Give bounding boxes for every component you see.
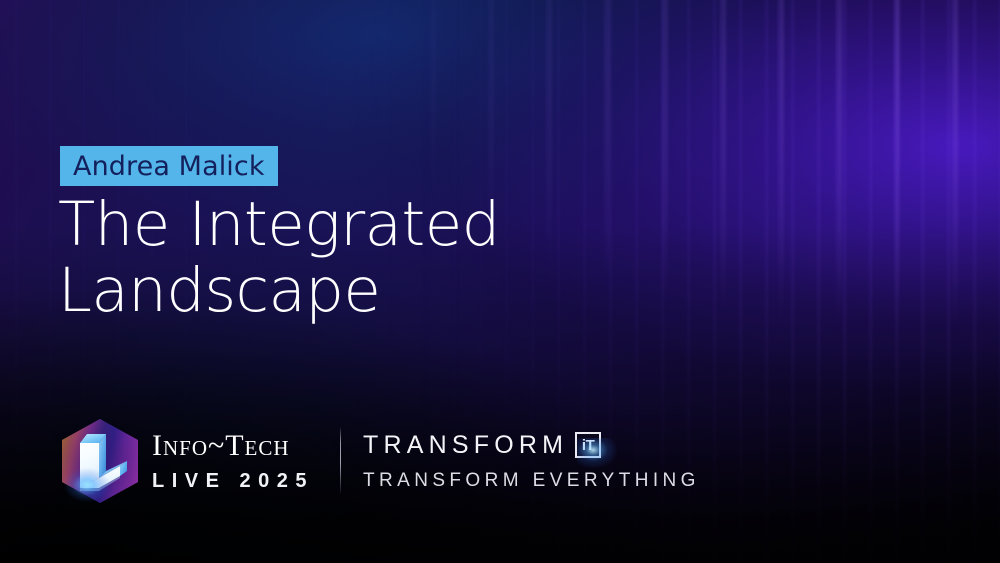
transform-wordmark: TRANSFORM iT TRANSFORM EVERYTHING — [363, 426, 700, 496]
logo-divider — [340, 428, 341, 494]
speaker-name-badge: Andrea Malick — [60, 146, 278, 186]
infotech-name-label: Info~Tech — [152, 431, 314, 461]
speaker-name-label: Andrea Malick — [73, 153, 265, 180]
infotech-hexagon-l-logo-icon — [58, 416, 142, 506]
footer-logo-lockup: Info~Tech LIVE 2025 TRANSFORM iT TRANSFO… — [58, 416, 700, 506]
it-badge-label: iT — [582, 438, 595, 453]
presentation-title-slide: Andrea Malick The Integrated Landscape — [0, 0, 1000, 563]
it-square-badge-icon: iT — [575, 432, 601, 458]
session-title: The Integrated Landscape — [58, 192, 678, 324]
transform-name-row: TRANSFORM iT — [363, 432, 700, 458]
transform-name-label: TRANSFORM — [363, 433, 568, 458]
infotech-wordmark: Info~Tech LIVE 2025 — [152, 426, 314, 496]
infotech-event-label: LIVE 2025 — [152, 471, 314, 491]
transform-tagline-label: TRANSFORM EVERYTHING — [363, 471, 700, 490]
